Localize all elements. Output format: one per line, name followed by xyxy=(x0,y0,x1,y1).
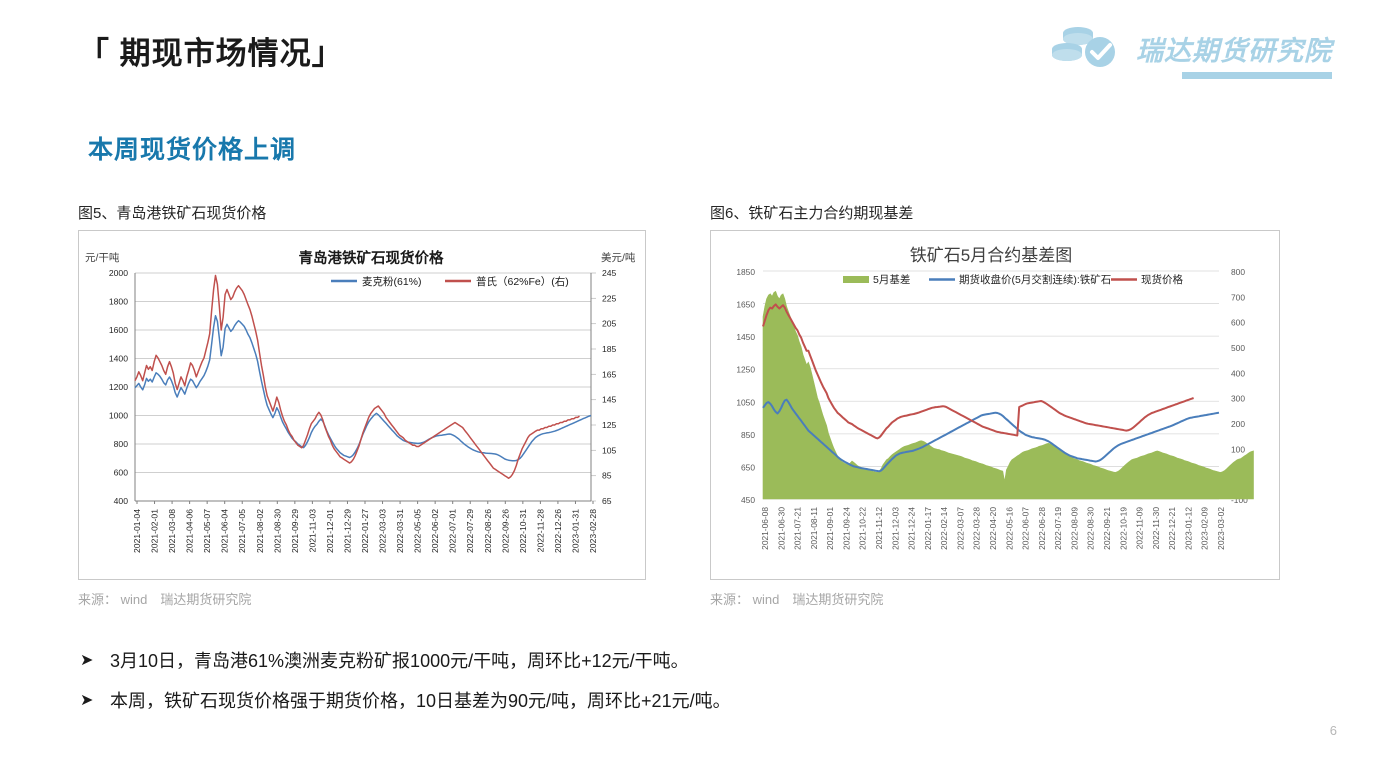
svg-text:300: 300 xyxy=(1231,394,1245,404)
brand-logo: 瑞达期货研究院 xyxy=(1050,24,1332,72)
svg-text:2022-04-20: 2022-04-20 xyxy=(988,507,998,550)
svg-text:225: 225 xyxy=(602,293,617,303)
svg-text:2021-08-30: 2021-08-30 xyxy=(272,509,282,553)
svg-text:1000: 1000 xyxy=(109,411,128,421)
svg-text:105: 105 xyxy=(602,445,617,455)
svg-text:1800: 1800 xyxy=(109,297,128,307)
svg-text:2022-07-01: 2022-07-01 xyxy=(448,509,458,553)
svg-text:2021-12-01: 2021-12-01 xyxy=(325,509,335,553)
bullet-arrow-icon: ➤ xyxy=(80,688,110,714)
svg-text:2022-11-28: 2022-11-28 xyxy=(535,509,545,553)
svg-text:2022-08-30: 2022-08-30 xyxy=(1086,507,1096,550)
svg-text:2022-05-05: 2022-05-05 xyxy=(413,509,423,553)
svg-text:2021-11-03: 2021-11-03 xyxy=(307,509,317,553)
svg-text:2022-08-09: 2022-08-09 xyxy=(1069,507,1079,550)
figure-6-chart-box: 铁矿石5月合约基差图45065085010501250145016501850-… xyxy=(710,230,1280,580)
figure-5: 图5、青岛港铁矿石现货价格 青岛港铁矿石现货价格元/干吨美元/吨40060080… xyxy=(78,202,646,608)
svg-text:2022-06-28: 2022-06-28 xyxy=(1037,507,1047,550)
logo-underline xyxy=(1182,72,1332,79)
figure-6-source: 来源： wind 瑞达期货研究院 xyxy=(710,589,1280,608)
bullet-text: 本周，铁矿石现货价格强于期货价格，10日基差为90元/吨，周环比+21元/吨。 xyxy=(110,688,731,714)
figure-6-caption: 图6、铁矿石主力合约期现基差 xyxy=(710,202,1280,223)
svg-text:2022-08-26: 2022-08-26 xyxy=(483,509,493,553)
svg-text:65: 65 xyxy=(602,496,612,506)
svg-text:2022-06-07: 2022-06-07 xyxy=(1021,507,1031,550)
svg-text:5月基差: 5月基差 xyxy=(873,273,910,286)
svg-text:2000: 2000 xyxy=(109,268,128,278)
svg-text:2022-01-27: 2022-01-27 xyxy=(360,509,370,553)
svg-text:2022-11-30: 2022-11-30 xyxy=(1151,507,1161,550)
svg-text:2021-02-01: 2021-02-01 xyxy=(150,509,160,553)
chart-iron-ore-basis: 铁矿石5月合约基差图45065085010501250145016501850-… xyxy=(711,231,1279,579)
bullet-item: ➤ 本周，铁矿石现货价格强于期货价格，10日基差为90元/吨，周环比+21元/吨… xyxy=(80,688,1260,714)
svg-text:2021-08-02: 2021-08-02 xyxy=(255,509,265,553)
svg-text:2021-09-29: 2021-09-29 xyxy=(290,509,300,553)
svg-text:600: 600 xyxy=(1231,318,1245,328)
svg-text:2021-11-12: 2021-11-12 xyxy=(874,507,884,550)
svg-text:2022-05-16: 2022-05-16 xyxy=(1004,507,1014,550)
svg-text:2022-12-26: 2022-12-26 xyxy=(553,509,563,553)
svg-text:2023-03-02: 2023-03-02 xyxy=(1216,507,1226,550)
svg-text:2022-03-07: 2022-03-07 xyxy=(955,507,965,550)
section-heading: 本周现货价格上调 xyxy=(88,130,296,166)
svg-text:2023-02-09: 2023-02-09 xyxy=(1200,507,1210,550)
svg-text:1650: 1650 xyxy=(736,300,755,310)
svg-text:2021-12-03: 2021-12-03 xyxy=(890,507,900,550)
svg-text:850: 850 xyxy=(741,430,755,440)
svg-text:200: 200 xyxy=(1231,419,1245,429)
svg-text:1250: 1250 xyxy=(736,365,755,375)
svg-text:2022-10-19: 2022-10-19 xyxy=(1118,507,1128,550)
svg-text:100: 100 xyxy=(1231,444,1245,454)
svg-text:125: 125 xyxy=(602,420,617,430)
svg-text:1450: 1450 xyxy=(736,332,755,342)
svg-text:2022-09-26: 2022-09-26 xyxy=(500,509,510,553)
svg-text:2022-07-19: 2022-07-19 xyxy=(1053,507,1063,550)
svg-text:700: 700 xyxy=(1231,292,1245,302)
svg-text:2021-03-08: 2021-03-08 xyxy=(167,509,177,553)
svg-text:2022-03-28: 2022-03-28 xyxy=(972,507,982,550)
svg-text:青岛港铁矿石现货价格: 青岛港铁矿石现货价格 xyxy=(299,249,444,267)
figure-5-chart-box: 青岛港铁矿石现货价格元/干吨美元/吨4006008001000120014001… xyxy=(78,230,646,580)
svg-text:2022-02-14: 2022-02-14 xyxy=(939,507,949,550)
svg-text:185: 185 xyxy=(602,344,617,354)
svg-text:2022-01-17: 2022-01-17 xyxy=(923,507,933,550)
svg-text:2021-06-30: 2021-06-30 xyxy=(776,507,786,550)
svg-text:400: 400 xyxy=(114,496,129,506)
svg-text:铁矿石5月合约基差图: 铁矿石5月合约基差图 xyxy=(910,246,1072,265)
svg-text:2021-06-08: 2021-06-08 xyxy=(760,507,770,550)
svg-text:85: 85 xyxy=(602,471,612,481)
svg-text:2022-09-21: 2022-09-21 xyxy=(1102,507,1112,550)
svg-text:2022-10-31: 2022-10-31 xyxy=(518,509,528,553)
svg-text:450: 450 xyxy=(741,495,755,505)
figure-5-caption: 图5、青岛港铁矿石现货价格 xyxy=(78,202,646,223)
svg-text:2023-02-28: 2023-02-28 xyxy=(588,509,598,553)
svg-text:2021-09-01: 2021-09-01 xyxy=(825,507,835,550)
svg-text:普氏（62%Fe）(右): 普氏（62%Fe）(右) xyxy=(476,275,569,288)
svg-text:800: 800 xyxy=(1231,267,1245,277)
svg-text:2021-12-24: 2021-12-24 xyxy=(907,507,917,550)
svg-text:2021-05-07: 2021-05-07 xyxy=(202,509,212,553)
svg-text:1400: 1400 xyxy=(109,354,128,364)
logo-text: 瑞达期货研究院 xyxy=(1136,29,1332,68)
svg-text:2021-01-04: 2021-01-04 xyxy=(132,509,142,553)
svg-text:2022-11-09: 2022-11-09 xyxy=(1135,507,1145,550)
figure-6: 图6、铁矿石主力合约期现基差 铁矿石5月合约基差图450650850105012… xyxy=(710,202,1280,608)
svg-text:2023-01-31: 2023-01-31 xyxy=(570,509,580,553)
svg-text:205: 205 xyxy=(602,319,617,329)
svg-text:2021-07-05: 2021-07-05 xyxy=(237,509,247,553)
svg-text:2022-12-21: 2022-12-21 xyxy=(1167,507,1177,550)
svg-text:165: 165 xyxy=(602,369,617,379)
svg-text:现货价格: 现货价格 xyxy=(1141,273,1183,286)
svg-text:2021-10-22: 2021-10-22 xyxy=(858,507,868,550)
svg-text:元/干吨: 元/干吨 xyxy=(85,251,120,264)
svg-text:2021-06-04: 2021-06-04 xyxy=(220,509,230,553)
svg-text:1200: 1200 xyxy=(109,382,128,392)
bullet-text: 3月10日，青岛港61%澳洲麦克粉矿报1000元/干吨，周环比+12元/干吨。 xyxy=(110,648,689,674)
coins-check-icon xyxy=(1050,24,1128,72)
svg-text:2022-03-03: 2022-03-03 xyxy=(378,509,388,553)
svg-text:2022-07-29: 2022-07-29 xyxy=(465,509,475,553)
svg-text:期货收盘价(5月交割连续):铁矿石: 期货收盘价(5月交割连续):铁矿石 xyxy=(959,273,1111,286)
bullet-item: ➤ 3月10日，青岛港61%澳洲麦克粉矿报1000元/干吨，周环比+12元/干吨… xyxy=(80,648,1260,674)
page-number: 6 xyxy=(1330,723,1337,738)
svg-text:2021-08-11: 2021-08-11 xyxy=(809,507,819,550)
svg-text:2023-01-12: 2023-01-12 xyxy=(1183,507,1193,550)
svg-text:600: 600 xyxy=(114,468,129,478)
slide-root: 「 期现市场情况」 瑞达期货研究院 本周现货价格上调 图5、青岛港铁矿石现货价格… xyxy=(0,0,1387,780)
page-title: 「 期现市场情况」 xyxy=(78,28,344,73)
svg-text:美元/吨: 美元/吨 xyxy=(601,251,636,264)
svg-text:1050: 1050 xyxy=(736,397,755,407)
svg-text:800: 800 xyxy=(114,439,129,449)
svg-text:麦克粉(61%): 麦克粉(61%) xyxy=(362,275,422,288)
figure-5-source: 来源： wind 瑞达期货研究院 xyxy=(78,589,646,608)
svg-text:500: 500 xyxy=(1231,343,1245,353)
svg-text:1600: 1600 xyxy=(109,325,128,335)
bullet-list: ➤ 3月10日，青岛港61%澳洲麦克粉矿报1000元/干吨，周环比+12元/干吨… xyxy=(80,648,1260,728)
svg-text:145: 145 xyxy=(602,395,617,405)
svg-text:2022-03-31: 2022-03-31 xyxy=(395,509,405,553)
svg-text:245: 245 xyxy=(602,268,617,278)
svg-text:1850: 1850 xyxy=(736,267,755,277)
bullet-arrow-icon: ➤ xyxy=(80,648,110,674)
svg-text:2021-09-24: 2021-09-24 xyxy=(841,507,851,550)
chart-qingdao-spot-price: 青岛港铁矿石现货价格元/干吨美元/吨4006008001000120014001… xyxy=(79,231,645,579)
svg-text:400: 400 xyxy=(1231,368,1245,378)
svg-text:650: 650 xyxy=(741,462,755,472)
svg-text:2021-04-06: 2021-04-06 xyxy=(185,509,195,553)
svg-text:2021-12-29: 2021-12-29 xyxy=(342,509,352,553)
svg-text:2022-06-02: 2022-06-02 xyxy=(430,509,440,553)
svg-text:2021-07-21: 2021-07-21 xyxy=(793,507,803,550)
